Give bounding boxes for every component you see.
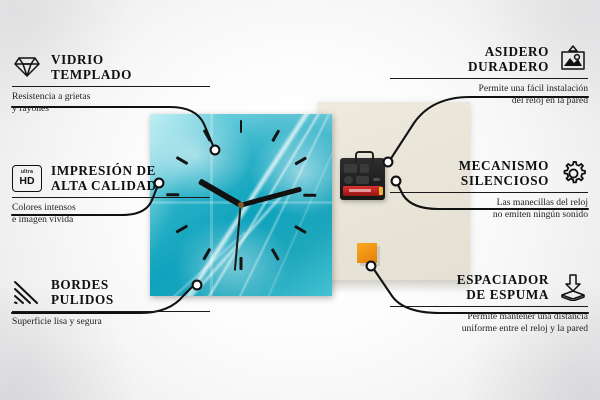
clock-hour-mark [303, 194, 316, 197]
clock-hour-mark [202, 248, 211, 261]
foam-spacer-pad [357, 243, 377, 263]
feature-title: VIDRIO TEMPLADO [51, 52, 132, 82]
clock-hour-mark [294, 225, 307, 234]
clock-minute-hand [240, 187, 301, 208]
product-feature-infographic: VIDRIO TEMPLADO Resistencia a grietas y … [0, 0, 600, 400]
battery-label-band [349, 189, 371, 192]
clock-hour-mark [271, 248, 280, 261]
feather-plume [245, 125, 332, 220]
feature-title: BORDES PULIDOS [51, 277, 114, 307]
feature-header: ultra HD IMPRESIÓN DE ALTA CALIDAD [12, 163, 210, 193]
feature-description-line-1: Colores intensos [12, 202, 210, 213]
feature-title: ASIDERO DURADERO [468, 44, 549, 74]
feature-divider [12, 86, 210, 87]
hd-badge-ultra-text: ultra [21, 170, 33, 175]
feature-impresion-alta-calidad: ultra HD IMPRESIÓN DE ALTA CALIDAD Color… [12, 163, 210, 225]
battery-positive-cap [379, 187, 383, 195]
arrow-onto-pad-icon [558, 272, 588, 302]
feature-header: MECANISMO SILENCIOSO [390, 158, 588, 188]
feature-divider [12, 311, 210, 312]
feature-description-line-2: del reloj en la pared [390, 95, 588, 106]
feature-description-line-2: e imagen vívida [12, 214, 210, 225]
gear-icon [558, 158, 588, 188]
feather-streak [255, 140, 332, 296]
feature-divider [390, 78, 588, 79]
feature-description-line-2: y rayones [12, 103, 210, 114]
feature-divider [12, 197, 210, 198]
ultra-hd-badge-icon: ultra HD [12, 163, 42, 193]
glass-reflection-line [210, 114, 213, 296]
mechanism-detail [344, 164, 357, 173]
hanging-picture-icon [558, 44, 588, 74]
feature-header: VIDRIO TEMPLADO [12, 52, 210, 82]
feature-title: ESPACIADOR DE ESPUMA [457, 272, 549, 302]
feature-description-line-1: Permite mantener una distancia [390, 311, 588, 322]
feature-title: MECANISMO SILENCIOSO [459, 158, 549, 188]
feature-header: ASIDERO DURADERO [390, 44, 588, 74]
feature-header: ESPACIADOR DE ESPUMA [390, 272, 588, 302]
clock-hour-mark [240, 257, 243, 270]
mechanism-detail [344, 176, 353, 184]
polished-edge-lines-icon [12, 277, 42, 307]
feature-divider [390, 192, 588, 193]
clock-mechanism-back [340, 158, 385, 200]
hd-badge-box: ultra HD [12, 165, 42, 192]
feature-bordes-pulidos: BORDES PULIDOS Superficie lisa y segura [12, 277, 210, 328]
clock-hour-mark [175, 225, 188, 234]
feature-vidrio-templado: VIDRIO TEMPLADO Resistencia a grietas y … [12, 52, 210, 114]
wall-hanger-loop [355, 151, 374, 163]
mechanism-detail [356, 176, 369, 184]
feature-divider [390, 306, 588, 307]
feature-mecanismo-silencioso: MECANISMO SILENCIOSO Las manecillas del … [390, 158, 588, 220]
feature-espaciador-de-espuma: ESPACIADOR DE ESPUMA Permite mantener un… [390, 272, 588, 334]
feature-asidero-duradero: ASIDERO DURADERO Permite una fácil insta… [390, 44, 588, 106]
feature-description-line-2: no emiten ningún sonido [390, 209, 588, 220]
feature-description-line-1: Las manecillas del reloj [390, 197, 588, 208]
feature-description-line-2: uniforme entre el reloj y la pared [390, 323, 588, 334]
clock-hour-mark [271, 129, 280, 142]
mechanism-detail [360, 164, 369, 173]
clock-hour-mark [202, 129, 211, 142]
hd-badge-hd-text: HD [19, 176, 34, 187]
aa-battery [343, 186, 382, 196]
clock-center-cap [238, 202, 244, 208]
clock-hour-mark [240, 120, 243, 133]
feature-header: BORDES PULIDOS [12, 277, 210, 307]
feature-title: IMPRESIÓN DE ALTA CALIDAD [51, 163, 157, 193]
feature-description-line-1: Resistencia a grietas [12, 91, 210, 102]
clock-hour-mark [294, 156, 307, 165]
feature-description-line-1: Permite una fácil instalación [390, 83, 588, 94]
diamond-icon [12, 52, 42, 82]
feature-description-line-1: Superficie lisa y segura [12, 316, 210, 327]
mechanism-detail [373, 178, 380, 181]
